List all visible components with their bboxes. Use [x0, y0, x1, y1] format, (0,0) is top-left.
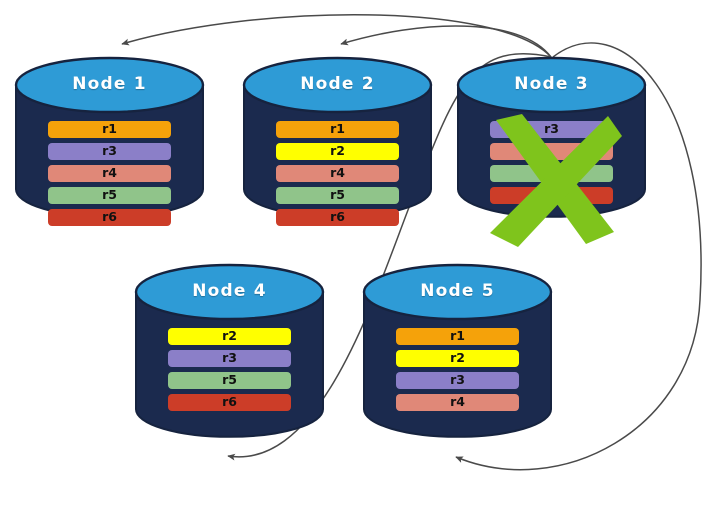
node-label: Node 2 — [242, 74, 433, 94]
replica-row[interactable]: r3 — [490, 121, 613, 138]
replica-row[interactable]: r3 — [396, 372, 519, 389]
replica-row[interactable] — [490, 165, 613, 182]
replica-row[interactable]: r5 — [168, 372, 291, 389]
replica-row[interactable]: r4 — [276, 165, 399, 182]
replica-label: r3 — [450, 374, 465, 387]
replica-label: r6 — [102, 211, 117, 224]
replica-row[interactable]: r2 — [168, 328, 291, 345]
replica-label: r2 — [450, 352, 465, 365]
replica-row[interactable]: r2 — [276, 143, 399, 160]
node-label: Node 5 — [362, 281, 553, 301]
replica-row[interactable]: r4 — [48, 165, 171, 182]
diagram-canvas: Node 1r1r3r4r5r6Node 2r1r2r4r5r6Node 3r3… — [0, 0, 708, 508]
arrow-node3-to-node2 — [341, 26, 551, 57]
node-label: Node 1 — [14, 74, 205, 94]
replica-row[interactable]: r4 — [396, 394, 519, 411]
replica-label: r1 — [102, 123, 117, 136]
replica-row-list: r1r2r3r4 — [362, 328, 553, 416]
replica-label: r4 — [330, 167, 345, 180]
replica-row[interactable] — [490, 143, 613, 160]
node-cylinder-1[interactable]: Node 1r1r3r4r5r6 — [14, 58, 205, 233]
replica-label: r1 — [450, 330, 465, 343]
replica-row[interactable]: r1 — [48, 121, 171, 138]
node-cylinder-5[interactable]: Node 5r1r2r3r4 — [362, 265, 553, 453]
replica-label: r3 — [222, 352, 237, 365]
replica-row[interactable]: r5 — [48, 187, 171, 204]
replica-row[interactable]: r6 — [168, 394, 291, 411]
replica-label: r4 — [102, 167, 117, 180]
node-cylinder-4[interactable]: Node 4r2r3r5r6 — [134, 265, 325, 453]
replica-row[interactable]: r3 — [168, 350, 291, 367]
replica-label: r2 — [222, 330, 237, 343]
node-cylinder-2[interactable]: Node 2r1r2r4r5r6 — [242, 58, 433, 233]
replica-label: r3 — [102, 145, 117, 158]
replica-row[interactable]: r3 — [48, 143, 171, 160]
replica-label: r1 — [330, 123, 345, 136]
replica-label: r5 — [102, 189, 117, 202]
node-label: Node 4 — [134, 281, 325, 301]
replica-label: r5 — [330, 189, 345, 202]
replica-row-list: r2r3r5r6 — [134, 328, 325, 416]
replica-label: r6 — [330, 211, 345, 224]
replica-row-list: r1r2r4r5r6 — [242, 121, 433, 231]
replica-row-list: r1r3r4r5r6 — [14, 121, 205, 231]
replica-row[interactable]: r1 — [276, 121, 399, 138]
replica-label: r5 — [222, 374, 237, 387]
replica-label: r2 — [330, 145, 345, 158]
replica-row[interactable]: r6 — [48, 209, 171, 226]
replica-row[interactable]: r2 — [396, 350, 519, 367]
replica-label: r4 — [450, 396, 465, 409]
replica-label: r6 — [222, 396, 237, 409]
replica-row[interactable]: r6 — [276, 209, 399, 226]
replica-row-list: r3 — [456, 121, 647, 209]
node-cylinder-3[interactable]: Node 3r3 — [456, 58, 647, 233]
arrow-node3-to-node1 — [122, 15, 551, 57]
replica-row[interactable]: r1 — [396, 328, 519, 345]
replica-row[interactable]: r5 — [276, 187, 399, 204]
replica-row[interactable] — [490, 187, 613, 204]
replica-label: r3 — [544, 123, 559, 136]
node-label: Node 3 — [456, 74, 647, 94]
